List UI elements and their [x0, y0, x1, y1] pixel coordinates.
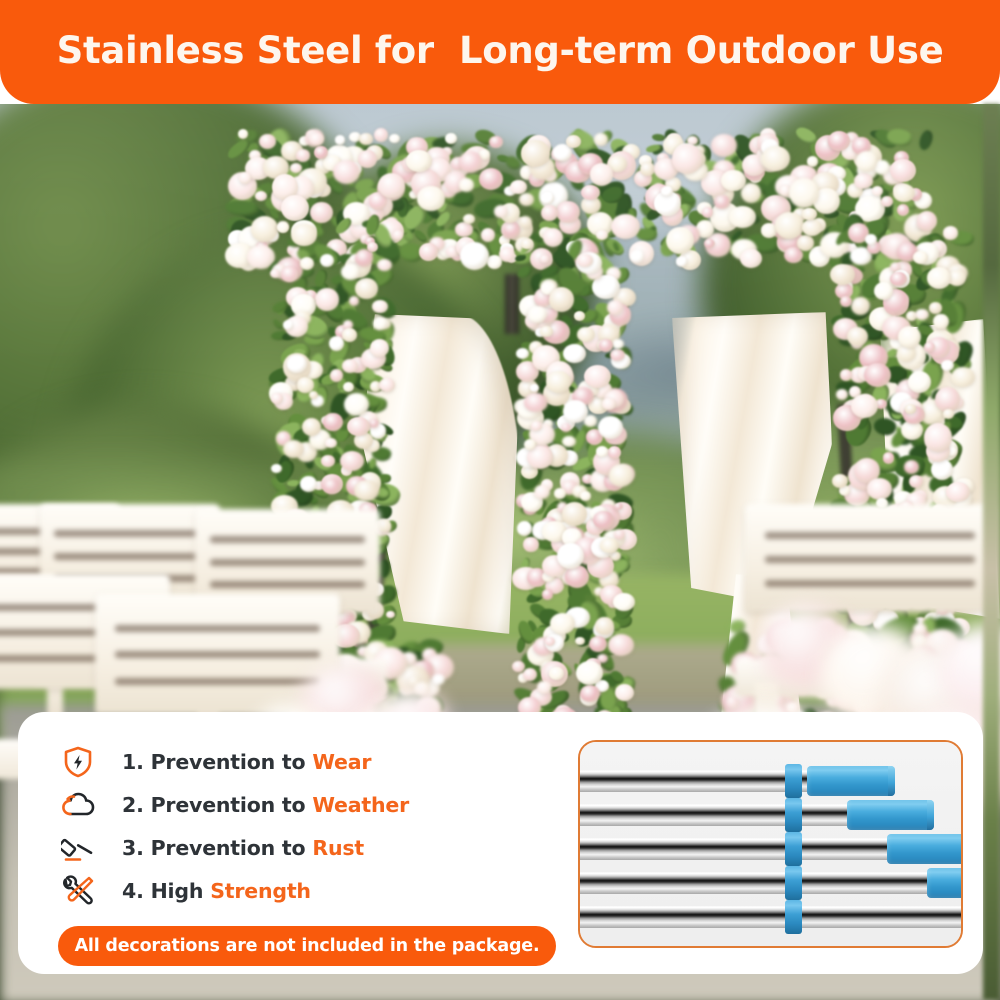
steel-rod [578, 906, 963, 928]
blue-collar [785, 764, 802, 798]
notice-badge: All decorations are not included in the … [58, 926, 556, 966]
shield-bolt-icon [58, 745, 98, 779]
product-image-panel [578, 740, 963, 948]
page-title: Stainless Steel for Long-term Outdoor Us… [57, 32, 944, 72]
wrench-screwdriver-icon [58, 874, 98, 908]
notice-text: All decorations are not included in the … [75, 936, 540, 956]
feature-label: 4. High Strength [122, 879, 311, 903]
bottom-info-card: 1. Prevention to Wear 2. Prevention to W… [18, 712, 983, 974]
blue-collar [785, 798, 802, 832]
infographic-page: Stainless Steel for Long-term Outdoor Us… [0, 0, 1000, 1000]
blue-connector-cap [807, 766, 895, 796]
gavel-icon [58, 831, 98, 865]
steel-rod [578, 872, 963, 894]
feature-label: 2. Prevention to Weather [122, 793, 409, 817]
feature-label: 1. Prevention to Wear [122, 750, 371, 774]
blue-connector-cap [887, 834, 963, 864]
feature-row-weather: 2. Prevention to Weather [58, 783, 538, 826]
feature-label: 3. Prevention to Rust [122, 836, 364, 860]
cloud-icon [58, 788, 98, 822]
photo-right-edge [983, 104, 1000, 1000]
arch-post [505, 274, 519, 334]
feature-list: 1. Prevention to Wear 2. Prevention to W… [58, 740, 538, 912]
blue-collar [785, 832, 802, 866]
feature-row-wear: 1. Prevention to Wear [58, 740, 538, 783]
blue-connector-cap [847, 800, 934, 830]
blue-collar [785, 900, 802, 934]
header-banner: Stainless Steel for Long-term Outdoor Us… [0, 0, 1000, 104]
feature-row-strength: 4. High Strength [58, 869, 538, 912]
blue-collar [785, 866, 802, 900]
feature-row-rust: 3. Prevention to Rust [58, 826, 538, 869]
blue-connector-cap [927, 868, 963, 898]
